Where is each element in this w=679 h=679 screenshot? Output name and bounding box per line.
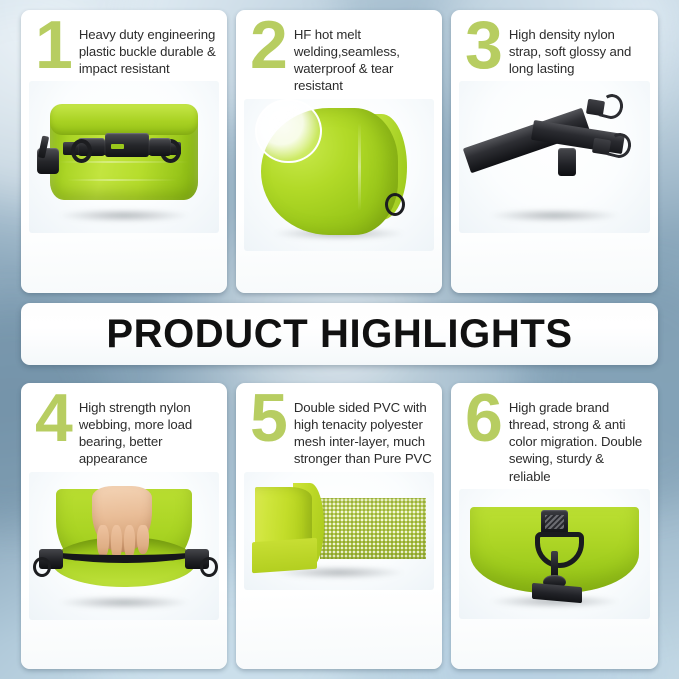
feature-4-text: High strength nylon webbing, more load b… xyxy=(79,395,217,468)
feature-card-2[interactable]: 2 HF hot melt welding,seamless, waterpro… xyxy=(236,10,442,293)
feature-2-number: 2 xyxy=(250,18,286,74)
feature-3-text: High density nylon strap, soft glossy an… xyxy=(509,22,648,77)
strap-slider xyxy=(558,148,575,176)
feature-card-1[interactable]: 1 Heavy duty engineering plastic buckle … xyxy=(21,10,227,293)
feature-card-4[interactable]: 4 High strength nylon webbing, more load… xyxy=(21,383,227,669)
pvc-fabric-cut-edge xyxy=(252,538,317,573)
dry-bag-roll-top xyxy=(50,104,198,134)
feature-2-text: HF hot melt welding,seamless, waterproof… xyxy=(294,22,432,95)
feature-1-header: 1 Heavy duty engineering plastic buckle … xyxy=(21,10,227,77)
welded-seam xyxy=(358,123,361,211)
feature-6-header: 6 High grade brand thread, strong & anti… xyxy=(451,383,658,485)
feature-2-image xyxy=(244,99,434,251)
shadow xyxy=(59,209,188,222)
buckle-male-end xyxy=(149,138,172,156)
d-ring-right xyxy=(200,557,218,577)
feature-2-header: 2 HF hot melt welding,seamless, waterpro… xyxy=(236,10,442,95)
feature-3-header: 3 High density nylon strap, soft glossy … xyxy=(451,10,658,77)
feature-4-number: 4 xyxy=(35,391,71,447)
feature-1-text: Heavy duty engineering plastic buckle du… xyxy=(79,22,217,77)
feature-6-text: High grade brand thread, strong & anti c… xyxy=(509,395,648,485)
feature-1-image xyxy=(29,81,219,233)
product-highlights-banner: PRODUCT HIGHLIGHTS xyxy=(21,303,658,365)
feature-4-header: 4 High strength nylon webbing, more load… xyxy=(21,383,227,468)
banner-title: PRODUCT HIGHLIGHTS xyxy=(106,312,572,357)
feature-6-number: 6 xyxy=(465,391,501,447)
feature-3-image xyxy=(459,81,650,233)
buckle-slot xyxy=(111,144,124,149)
bottom-d-ring xyxy=(385,193,405,216)
feature-card-5[interactable]: 5 Double sided PVC with high tenacity po… xyxy=(236,383,442,669)
feature-4-image xyxy=(29,472,219,620)
d-ring-left xyxy=(33,557,51,577)
feature-1-number: 1 xyxy=(35,18,71,74)
feature-3-number: 3 xyxy=(465,18,501,74)
d-ring xyxy=(71,139,92,163)
feature-5-image xyxy=(244,472,434,590)
nylon-webbing-handle xyxy=(44,537,204,563)
feature-card-3[interactable]: 3 High density nylon strap, soft glossy … xyxy=(451,10,658,293)
feature-6-image xyxy=(459,489,650,619)
swivel-hook xyxy=(598,91,626,121)
connector-strap xyxy=(551,551,559,577)
shadow xyxy=(59,596,188,609)
shadow xyxy=(490,209,620,222)
feature-5-header: 5 Double sided PVC with high tenacity po… xyxy=(236,383,442,468)
feature-card-6[interactable]: 6 High grade brand thread, strong & anti… xyxy=(451,383,658,669)
product-highlights-infographic: 1 Heavy duty engineering plastic buckle … xyxy=(0,0,679,679)
fabric-crease xyxy=(67,179,177,181)
polyester-mesh-interlayer xyxy=(320,498,426,559)
feature-5-number: 5 xyxy=(250,391,286,447)
feature-5-text: Double sided PVC with high tenacity poly… xyxy=(294,395,432,468)
double-stitching xyxy=(545,515,564,529)
magnifier-circle xyxy=(255,99,322,164)
